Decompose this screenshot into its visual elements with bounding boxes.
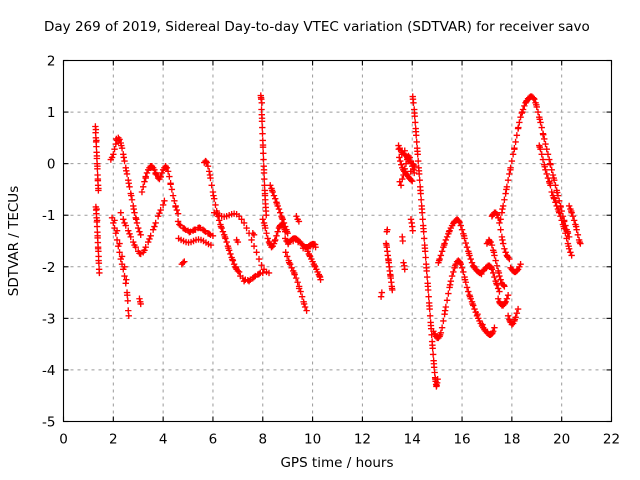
y-tick-label: 1: [47, 105, 56, 121]
x-tick-label: 14: [404, 432, 421, 448]
x-tick-label: 6: [209, 432, 218, 448]
x-tick-label: 20: [553, 432, 570, 448]
y-tick-label: -4: [42, 363, 55, 379]
x-tick-label: 16: [453, 432, 470, 448]
scatter-plot: Day 269 of 2019, Sidereal Day-to-day VTE…: [0, 0, 640, 480]
y-tick-label: -1: [42, 208, 55, 224]
y-tick-label: -3: [42, 311, 55, 327]
y-tick-label: -5: [42, 415, 55, 431]
x-tick-label: 10: [304, 432, 321, 448]
chart-container: Day 269 of 2019, Sidereal Day-to-day VTE…: [0, 0, 640, 480]
y-tick-label: 0: [47, 157, 56, 173]
y-tick-label: 2: [47, 54, 56, 70]
x-tick-label: 18: [503, 432, 520, 448]
chart-title: Day 269 of 2019, Sidereal Day-to-day VTE…: [44, 19, 590, 35]
y-tick-label: -2: [42, 260, 55, 276]
x-tick-label: 2: [109, 432, 118, 448]
x-tick-label: 8: [258, 432, 267, 448]
x-tick-label: 12: [354, 432, 371, 448]
x-tick-label: 0: [59, 432, 68, 448]
plot-background: [0, 0, 640, 480]
y-axis-label: SDTVAR / TECUs: [6, 186, 22, 296]
x-tick-label: 22: [603, 432, 620, 448]
x-tick-label: 4: [159, 432, 168, 448]
x-axis-label: GPS time / hours: [280, 455, 393, 471]
